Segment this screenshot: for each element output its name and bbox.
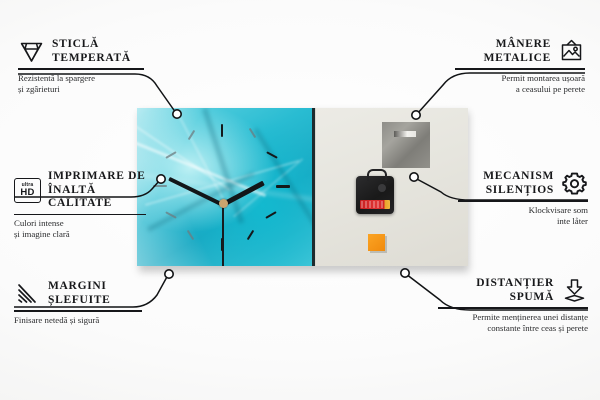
feature-header: MARGINI ȘLEFUITE bbox=[14, 280, 142, 307]
feature-silent-mechanism: MECANISM SILENȚIOS Klockvisare som inte … bbox=[458, 170, 588, 227]
foam-spacer bbox=[368, 234, 385, 251]
clock-second-hand bbox=[222, 204, 224, 266]
feather-shadow bbox=[254, 128, 315, 249]
clock-mechanism bbox=[356, 176, 394, 214]
feature-metal-handles: MÂNERE METALICE Permit montarea ușoară a… bbox=[455, 38, 585, 95]
feature-description: Rezistentă la spargere și zgârieturi bbox=[18, 73, 144, 95]
feature-underline bbox=[18, 68, 144, 70]
feature-header: STICLĂ TEMPERATĂ bbox=[18, 38, 144, 65]
gear-icon bbox=[561, 171, 588, 196]
diamond-icon bbox=[18, 40, 45, 64]
feature-description: Klockvisare som inte låter bbox=[458, 205, 588, 227]
press-down-icon bbox=[561, 278, 588, 303]
clock-tick-5 bbox=[247, 230, 255, 240]
metal-hanger-plate bbox=[382, 122, 430, 168]
clock-tick-12 bbox=[221, 124, 223, 137]
infographic-canvas: STICLĂ TEMPERATĂ Rezistentă la spargere … bbox=[0, 0, 600, 400]
feature-foam-spacer: DISTANȚIER SPUMĂ Permite menținerea unei… bbox=[438, 277, 588, 334]
feature-title: STICLĂ TEMPERATĂ bbox=[52, 38, 131, 65]
feature-title: MECANISM SILENȚIOS bbox=[483, 170, 554, 197]
feature-underline bbox=[14, 214, 146, 216]
feature-underline bbox=[438, 307, 588, 309]
feature-header: ultra HD IMPRIMARE DE ÎNALTĂ CALITATE bbox=[14, 170, 146, 211]
clock-tick-4 bbox=[265, 211, 276, 219]
hanger-slot bbox=[394, 131, 416, 137]
feature-underline bbox=[455, 68, 585, 70]
picture-hanger-icon bbox=[558, 39, 585, 64]
clock-tick-9 bbox=[153, 185, 167, 187]
feature-title: DISTANȚIER SPUMĂ bbox=[476, 277, 554, 304]
feature-description: Permit montarea ușoară a ceasului pe per… bbox=[455, 73, 585, 95]
clock-face bbox=[137, 108, 315, 266]
mechanism-hook bbox=[367, 169, 387, 181]
feature-description: Finisare netedă și sigură bbox=[14, 315, 142, 326]
feature-header: MECANISM SILENȚIOS bbox=[458, 170, 588, 197]
ultra-hd-main-label: HD bbox=[20, 188, 34, 198]
feature-underline bbox=[14, 310, 142, 312]
feature-header: DISTANȚIER SPUMĂ bbox=[438, 277, 588, 304]
feature-high-quality-print: ultra HD IMPRIMARE DE ÎNALTĂ CALITATE Cu… bbox=[14, 170, 146, 240]
ultra-hd-icon: ultra HD bbox=[14, 178, 41, 203]
feature-description: Permite menținerea unei distanțe constan… bbox=[438, 312, 588, 334]
clock-center-cap bbox=[219, 199, 228, 208]
battery-label bbox=[361, 201, 383, 208]
clock-back-panel bbox=[315, 108, 468, 266]
clock-tick-3 bbox=[276, 185, 290, 188]
clock-tick-7 bbox=[187, 230, 195, 240]
feature-title: MARGINI ȘLEFUITE bbox=[48, 280, 110, 307]
mechanism-shaft bbox=[378, 184, 386, 192]
polished-edges-icon bbox=[14, 282, 41, 306]
product-composite bbox=[137, 108, 467, 268]
feature-underline bbox=[458, 200, 588, 202]
feature-title: IMPRIMARE DE ÎNALTĂ CALITATE bbox=[48, 170, 146, 211]
feature-polished-edges: MARGINI ȘLEFUITE Finisare netedă și sigu… bbox=[14, 280, 142, 326]
feature-tempered-glass: STICLĂ TEMPERATĂ Rezistentă la spargere … bbox=[18, 38, 144, 95]
feature-title: MÂNERE METALICE bbox=[484, 38, 551, 65]
feature-header: MÂNERE METALICE bbox=[455, 38, 585, 65]
feature-description: Culori intense și imagine clară bbox=[14, 218, 146, 240]
